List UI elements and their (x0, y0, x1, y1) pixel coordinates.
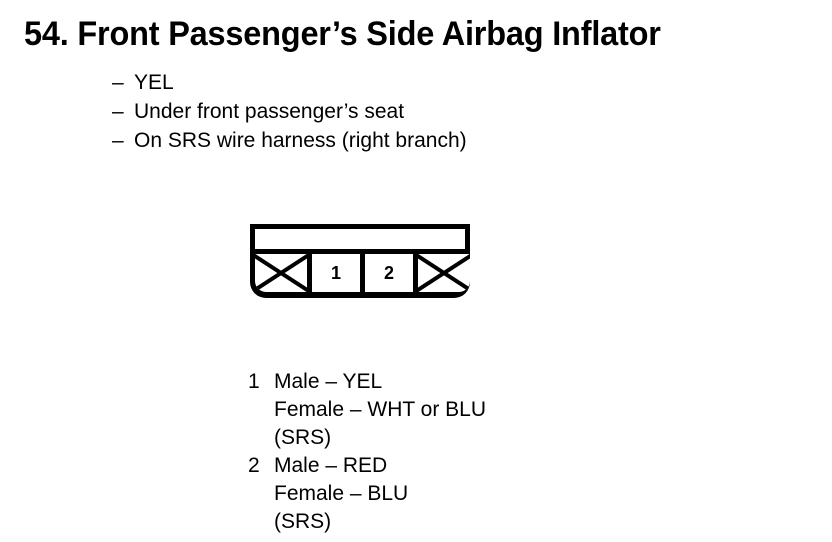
page-title: 54. Front Passenger’s Side Airbag Inflat… (24, 14, 661, 54)
legend-item-number: 2 (248, 452, 274, 480)
legend-item-lines: Male – RED Female – BLU (SRS) (274, 452, 486, 536)
en-dash-bullet-icon: – (112, 97, 134, 126)
connector-cavity-blank-left (255, 254, 307, 292)
legend-line-male: Male – YEL (274, 368, 486, 396)
connector-cavity-2: 2 (365, 254, 413, 292)
en-dash-bullet-icon: – (112, 126, 134, 155)
legend-line-system: (SRS) (274, 424, 486, 452)
legend-item-lines: Male – YEL Female – WHT or BLU (SRS) (274, 368, 486, 452)
spec-list-item-label: On SRS wire harness (right branch) (134, 126, 467, 155)
en-dash-bullet-icon: – (112, 68, 134, 97)
legend-line-system: (SRS) (274, 508, 486, 536)
legend-line-male: Male – RED (274, 452, 486, 480)
spec-list: – YEL – Under front passenger’s seat – O… (112, 68, 467, 155)
legend-line-female: Female – BLU (274, 480, 486, 508)
connector-cavity-blank-right (418, 254, 470, 292)
spec-list-item: – Under front passenger’s seat (112, 97, 467, 126)
legend-item: 2 Male – RED Female – BLU (SRS) (248, 452, 486, 536)
legend-item: 1 Male – YEL Female – WHT or BLU (SRS) (248, 368, 486, 452)
spec-list-item: – On SRS wire harness (right branch) (112, 126, 467, 155)
spec-list-item-label: Under front passenger’s seat (134, 97, 404, 126)
connector-cavity-row: 1 2 (255, 249, 465, 292)
cavity-label: 1 (331, 263, 341, 284)
spec-list-item-label: YEL (134, 68, 174, 97)
connector-latch-bar (255, 229, 465, 249)
connector-diagram: 1 2 (250, 224, 470, 298)
spec-list-item: – YEL (112, 68, 467, 97)
connector-cavity-1: 1 (312, 254, 360, 292)
cavity-label: 2 (384, 263, 394, 284)
legend-line-female: Female – WHT or BLU (274, 396, 486, 424)
legend-item-number: 1 (248, 368, 274, 396)
terminal-legend: 1 Male – YEL Female – WHT or BLU (SRS) 2… (248, 368, 486, 536)
